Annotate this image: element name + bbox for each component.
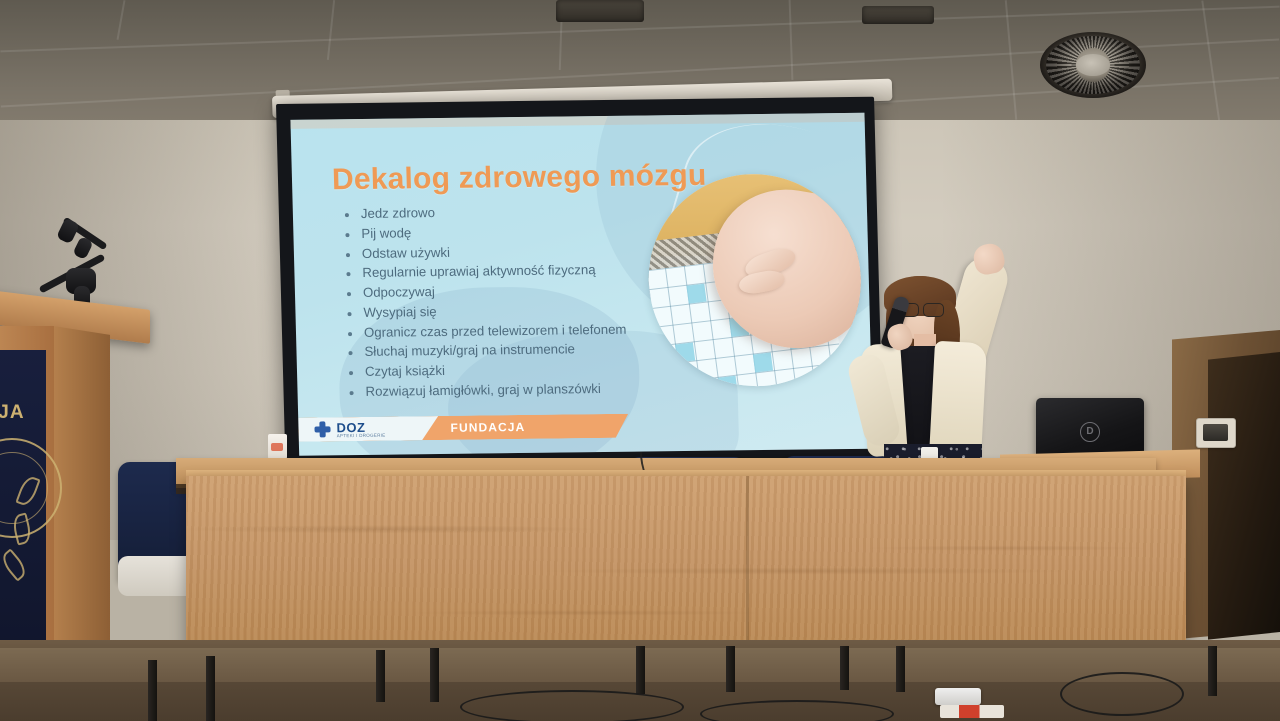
- diffuser-vanes: [1046, 36, 1139, 94]
- table-leg: [206, 656, 215, 721]
- wood-grain: [186, 476, 1186, 666]
- dell-logo-icon: D: [1080, 422, 1100, 442]
- floor-cable: [700, 700, 894, 721]
- slide-brand-bar: DOZ APTEKI I DROGERIE FUNDACJA: [298, 414, 629, 442]
- list-item: Odpoczywaj: [343, 282, 683, 301]
- wall-control-panel[interactable]: [1196, 418, 1236, 448]
- ceiling-speaker-2: [862, 6, 934, 24]
- medical-cross-icon: [314, 421, 330, 437]
- list-item: Jedz zdrowo: [341, 203, 681, 222]
- podium-banner-text: IJA: [0, 402, 25, 424]
- list-item: Wysypiaj się: [343, 302, 683, 321]
- front-desk-panel: [186, 476, 1186, 666]
- table-leg: [896, 646, 905, 692]
- slide-bullet-list: Jedz zdrowo Pij wodę Odstaw używki Regul…: [341, 203, 686, 405]
- floor-cable: [460, 690, 684, 721]
- slide-photo-puzzle-hand: [646, 173, 864, 388]
- ceiling-speaker: [556, 0, 644, 22]
- list-item: Czytaj książki: [345, 361, 685, 380]
- brand-logo-subtext: APTEKI I DROGERIE: [337, 433, 386, 439]
- list-item: Rozwiązuj łamigłówki, graj w planszówki: [345, 381, 685, 400]
- table-leg: [376, 650, 385, 702]
- list-item: Ogranicz czas przed telewizorem i telefo…: [344, 322, 684, 341]
- table-leg: [148, 660, 157, 721]
- podium-banner: IJA: [0, 350, 46, 680]
- list-item: Odstaw używki: [342, 243, 682, 262]
- floor-cable: [1060, 672, 1184, 716]
- floor-box: [940, 705, 1004, 718]
- presenter-jacket-right: [929, 341, 987, 460]
- door-recess: [1208, 352, 1280, 640]
- table-leg: [726, 646, 735, 692]
- presentation-room-photo: Dekalog zdrowego mózgu Jedz zdrowo Pij w…: [0, 0, 1280, 721]
- list-item: Regularnie uprawiaj aktywność fizyczną: [342, 262, 682, 281]
- air-diffuser-icon: [1040, 32, 1146, 98]
- table-leg: [840, 646, 849, 690]
- brand-secondary-text: FUNDACJA: [450, 420, 525, 435]
- list-item: Słuchaj muzyki/graj na instrumencie: [344, 341, 684, 360]
- table-leg: [1208, 646, 1217, 696]
- presentation-slide: Dekalog zdrowego mózgu Jedz zdrowo Pij w…: [290, 113, 873, 456]
- list-item: Pij wodę: [341, 223, 681, 242]
- panel-display: [1203, 424, 1228, 441]
- table-leg: [636, 646, 645, 694]
- table-leg: [430, 648, 439, 702]
- projection-screen: Dekalog zdrowego mózgu Jedz zdrowo Pij w…: [276, 97, 883, 466]
- power-strip[interactable]: [935, 688, 981, 705]
